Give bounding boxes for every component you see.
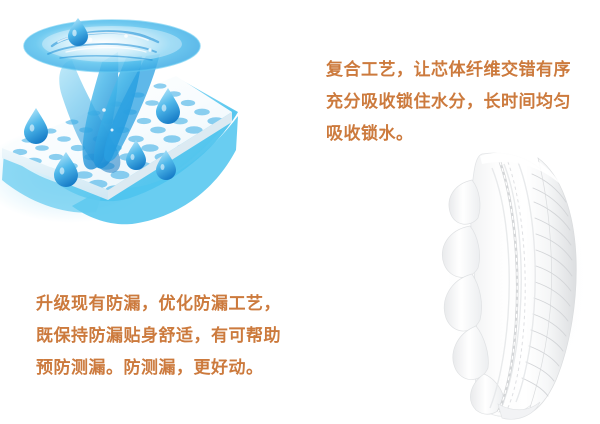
absorption-paragraph: 复合工艺，让芯体纤维交错有序 充分吸收锁住水分，长时间均匀 吸收锁水。: [326, 54, 571, 150]
leakguard-paragraph: 升级现有防漏，优化防漏工艺， 既保持防漏贴身舒适，有可帮助 预防测漏。防测漏，更…: [36, 288, 281, 384]
leakguard-line-3: 预防测漏。防测漏，更好动。: [36, 352, 281, 384]
absorption-line-1: 复合工艺，让芯体纤维交错有序: [326, 54, 571, 86]
absorbent-sheet-illustration: [0, 0, 310, 270]
leak-guard-cuff-illustration: [420, 140, 600, 424]
leakguard-line-2: 既保持防漏贴身舒适，有可帮助: [36, 320, 281, 352]
infographic-page: 复合工艺，让芯体纤维交错有序 充分吸收锁住水分，长时间均匀 吸收锁水。: [0, 0, 600, 424]
droplet-left: [24, 108, 48, 144]
leakguard-line-1: 升级现有防漏，优化防漏工艺，: [36, 288, 281, 320]
absorption-line-2: 充分吸收锁住水分，长时间均匀: [326, 86, 571, 118]
